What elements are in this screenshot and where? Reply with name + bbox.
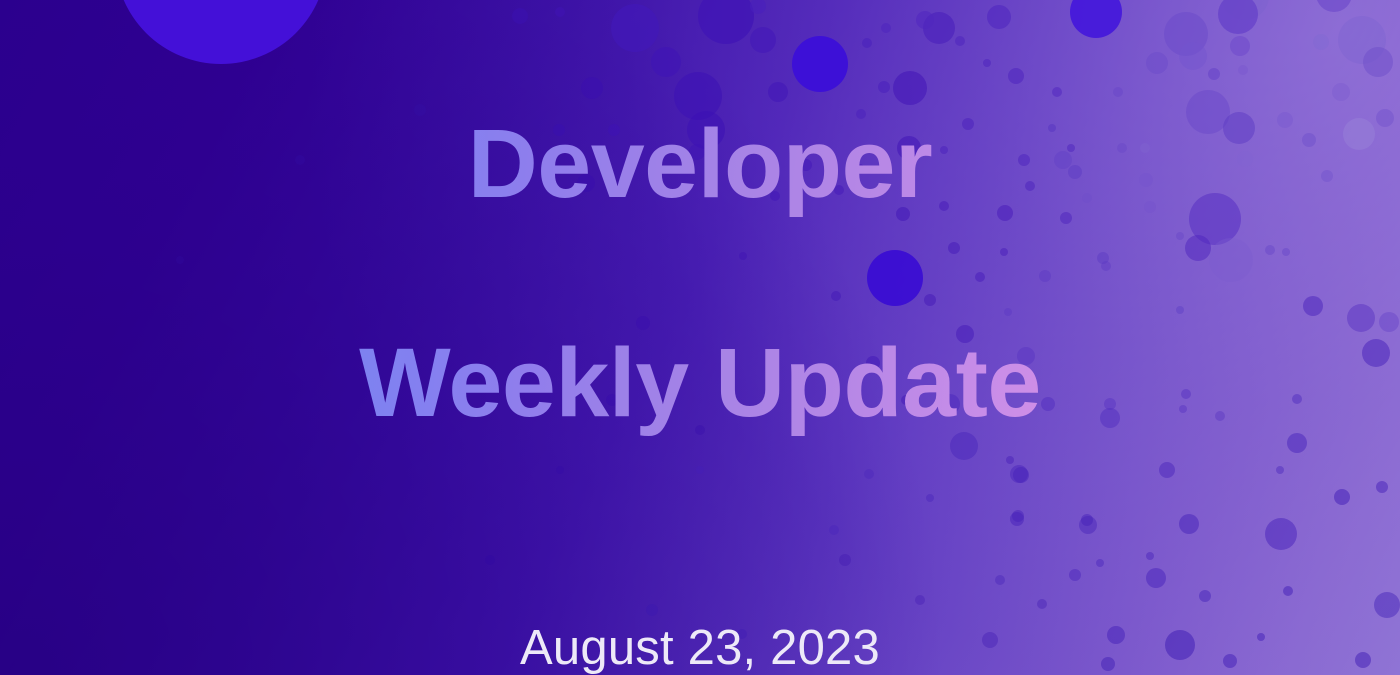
slide-canvas: Developer Weekly Update August 23, 2023 bbox=[0, 0, 1400, 675]
title-line-2: Weekly Update bbox=[359, 328, 1041, 438]
title-line-1: Developer bbox=[359, 109, 1041, 219]
slide-date: August 23, 2023 bbox=[520, 620, 880, 675]
slide-content: Developer Weekly Update August 23, 2023 bbox=[0, 0, 1400, 675]
page-title: Developer Weekly Update bbox=[359, 0, 1041, 548]
